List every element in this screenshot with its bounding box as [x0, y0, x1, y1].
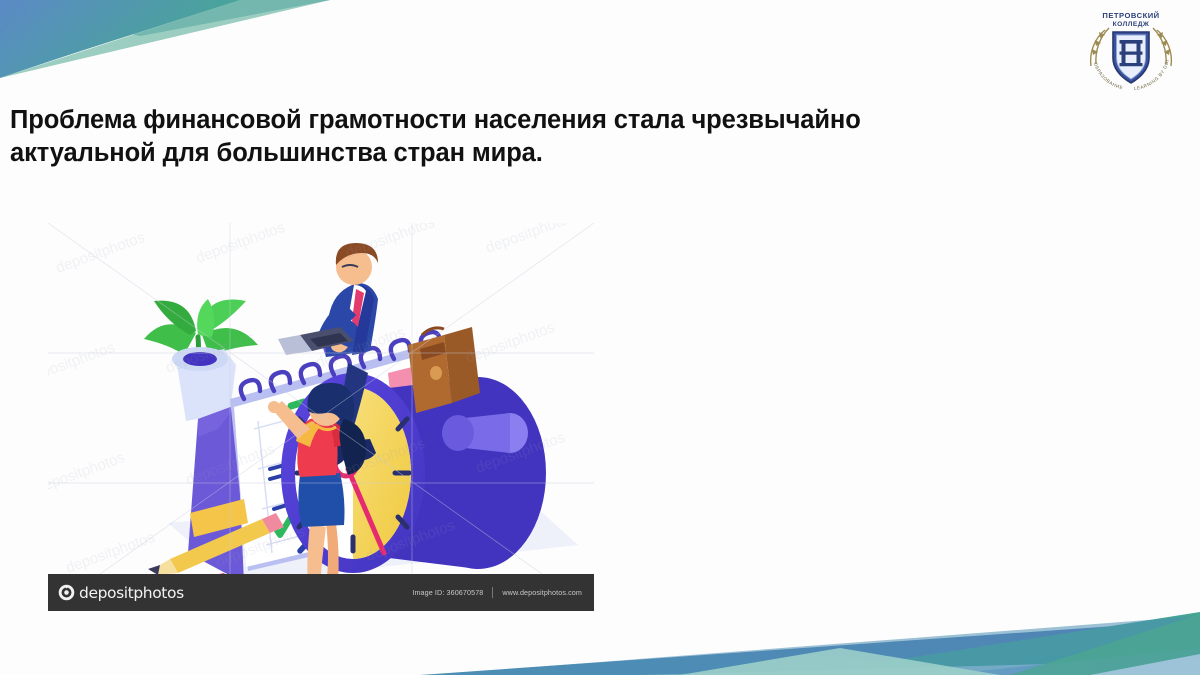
deco-shape-bottom-band [420, 620, 1200, 675]
slide-image: depositphotos depositphotos depositphoto… [48, 223, 594, 611]
image-id-label: Image ID: 360670578 [412, 588, 483, 597]
presentation-slide: ОБРАЗОВАНИЕ LEARNING BY DOING ПЕТРОВСКИЙ… [0, 0, 1200, 675]
website-label: www.depositphotos.com [502, 588, 582, 597]
brand-name: depositphotos [79, 584, 184, 602]
deco-shape-top-teal [0, 0, 232, 78]
footer-divider [492, 587, 493, 598]
deco-shape-bottom-inner [1090, 654, 1200, 675]
illustration-artwork [48, 223, 594, 611]
footer-meta: Image ID: 360670578 www.depositphotos.co… [412, 587, 582, 598]
stopwatch-crown [442, 413, 528, 453]
slide-title: Проблема финансовой грамотности населени… [10, 104, 1070, 170]
depositphotos-brand: depositphotos [58, 584, 184, 602]
deco-shape-bottom-accent [1010, 614, 1200, 675]
logo-line1: ПЕТРОВСКИЙ [1102, 11, 1159, 20]
title-line-2: актуальной для большинства стран мира. [10, 137, 1070, 170]
deco-shape-bottom-edge [430, 616, 1200, 675]
deco-shape-top-main [0, 0, 232, 78]
skirt [298, 473, 344, 527]
deco-shape-top-big [0, 0, 240, 77]
deco-shape-bottom-teal [800, 612, 1200, 675]
deco-shape-bottom-v [680, 648, 1000, 675]
deco-shape-bottom-pale [940, 648, 1200, 675]
deco-shape-top-pale [60, 0, 330, 36]
camera-aperture-icon [58, 584, 75, 601]
college-logo: ОБРАЗОВАНИЕ LEARNING BY DOING ПЕТРОВСКИЙ… [1075, 4, 1187, 96]
deco-shape-top-diag [0, 0, 330, 78]
title-line-1: Проблема финансовой грамотности населени… [10, 104, 1070, 137]
deco-shape-bottom-light [640, 660, 1200, 675]
logo-line2: КОЛЛЕДЖ [1113, 21, 1150, 28]
deco-shape-top-light [0, 0, 330, 36]
deco-shape-top-band [0, 0, 320, 68]
depositphotos-footer-bar: depositphotos Image ID: 360670578 www.de… [48, 574, 594, 611]
